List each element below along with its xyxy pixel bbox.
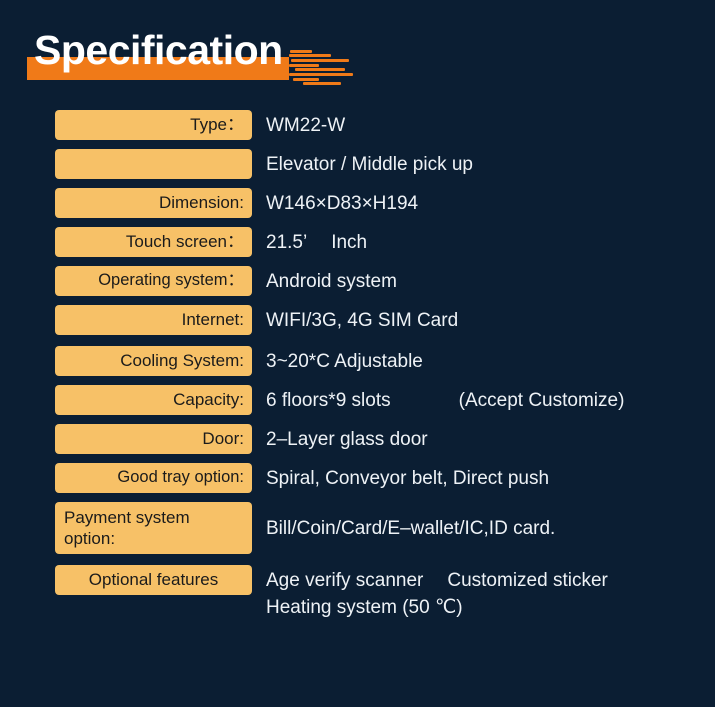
spec-value-payment-system-option: Bill/Coin/Card/E–wallet/IC,ID card. <box>252 502 705 541</box>
spec-label-text-line2: option: <box>64 528 244 549</box>
specification-page: Specification Type： WM22-W Elevator / Mi… <box>0 0 715 707</box>
spec-value-text-line1: Age verify scanner <box>266 568 423 593</box>
spec-value-type: WM22-W <box>252 110 705 138</box>
spec-value-dimension: W146×D83×H194 <box>252 188 705 216</box>
spec-label-good-tray-option: Good tray option: <box>55 463 252 493</box>
spec-row-optional-features: Optional features Age verify scanner Cus… <box>55 565 705 620</box>
spec-value-capacity: 6 floors*9 slots (Accept Customize) <box>252 385 705 413</box>
spec-label-text: Internet: <box>63 309 244 330</box>
spec-row-door: Door: 2–Layer glass door <box>55 424 705 454</box>
spec-label-dimension: Dimension: <box>55 188 252 218</box>
spec-value-text: 3~20*C Adjustable <box>266 349 423 374</box>
spec-row-cooling-system: Cooling System: 3~20*C Adjustable <box>55 346 705 376</box>
title-banner-fray-decoration <box>289 48 359 88</box>
spec-value-note-line1: Customized sticker <box>447 568 608 593</box>
spec-label-operating-system: Operating system： <box>55 266 252 296</box>
spec-value-good-tray-option: Spiral, Conveyor belt, Direct push <box>252 463 705 491</box>
specification-list: Type： WM22-W Elevator / Middle pick up D… <box>55 110 705 629</box>
spec-label-cooling-system: Cooling System: <box>55 346 252 376</box>
spec-value-text-line2: Heating system (50 ℃) <box>266 595 463 620</box>
spec-row-elevator: Elevator / Middle pick up <box>55 149 705 179</box>
spec-value-operating-system: Android system <box>252 266 705 294</box>
spec-value-note: (Accept Customize) <box>459 388 625 413</box>
spec-label-text: Type： <box>63 114 244 135</box>
spec-value-text: 2–Layer glass door <box>266 427 428 452</box>
spec-value-internet: WIFI/3G, 4G SIM Card <box>252 305 705 333</box>
spec-value-text: Bill/Coin/Card/E–wallet/IC,ID card. <box>266 516 555 541</box>
spec-row-dimension: Dimension: W146×D83×H194 <box>55 188 705 218</box>
spec-row-touch-screen: Touch screen： 21.5’ Inch <box>55 227 705 257</box>
spec-value-text: Android system <box>266 269 397 294</box>
spec-label-text: Optional features <box>63 569 244 590</box>
spec-value-text: 21.5’ <box>266 230 307 255</box>
spec-value-text: Spiral, Conveyor belt, Direct push <box>266 466 549 491</box>
spec-label-internet: Internet: <box>55 305 252 335</box>
spec-label-text: Good tray option: <box>63 467 244 488</box>
spec-label-door: Door: <box>55 424 252 454</box>
spec-value-unit: Inch <box>331 230 367 255</box>
spec-label-touch-screen: Touch screen： <box>55 227 252 257</box>
spec-row-internet: Internet: WIFI/3G, 4G SIM Card <box>55 305 705 335</box>
page-title: Specification <box>34 26 283 74</box>
spec-value-text: Elevator / Middle pick up <box>266 152 473 177</box>
spec-value-text: W146×D83×H194 <box>266 191 418 216</box>
spec-label-text: Touch screen： <box>63 231 244 252</box>
spec-label-text: Operating system： <box>63 270 244 291</box>
spec-row-good-tray-option: Good tray option: Spiral, Conveyor belt,… <box>55 463 705 493</box>
spec-label-capacity: Capacity: <box>55 385 252 415</box>
spec-value-text: 6 floors*9 slots <box>266 388 391 413</box>
spec-label-text: Door: <box>63 428 244 449</box>
spec-value-elevator: Elevator / Middle pick up <box>252 149 705 177</box>
spec-label-type: Type： <box>55 110 252 140</box>
spec-row-payment-system-option: Payment system option: Bill/Coin/Card/E–… <box>55 502 705 554</box>
spec-value-touch-screen: 21.5’ Inch <box>252 227 705 255</box>
spec-label-text: Capacity: <box>63 389 244 410</box>
spec-value-text: WM22-W <box>266 113 345 138</box>
spec-label-payment-system-option: Payment system option: <box>55 502 252 554</box>
spec-label-text: Dimension: <box>63 192 244 213</box>
spec-label-text: Cooling System: <box>63 350 244 371</box>
spec-row-operating-system: Operating system： Android system <box>55 266 705 296</box>
title-banner: Specification <box>27 26 667 88</box>
spec-value-door: 2–Layer glass door <box>252 424 705 452</box>
spec-label-empty <box>55 149 252 179</box>
spec-value-text: WIFI/3G, 4G SIM Card <box>266 308 458 333</box>
spec-value-cooling-system: 3~20*C Adjustable <box>252 346 705 374</box>
spec-row-type: Type： WM22-W <box>55 110 705 140</box>
spec-label-optional-features: Optional features <box>55 565 252 595</box>
spec-label-text-line1: Payment system <box>64 507 244 528</box>
spec-value-optional-features: Age verify scanner Customized sticker He… <box>252 565 705 620</box>
spec-row-capacity: Capacity: 6 floors*9 slots (Accept Custo… <box>55 385 705 415</box>
